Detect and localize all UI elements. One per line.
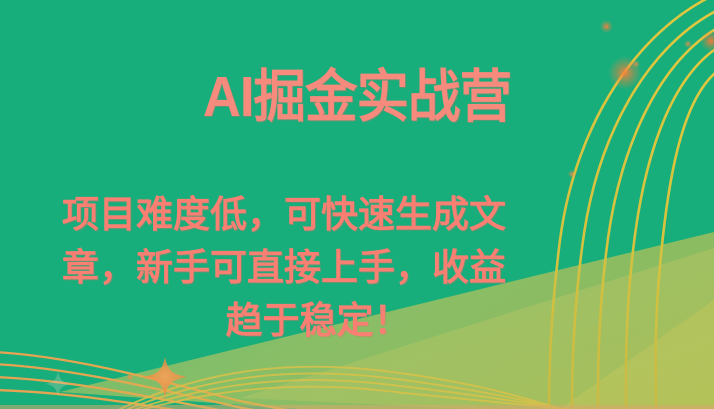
poster-subtitle: 项目难度低，可快速生成文 章，新手可直接上手，收益 趋于稳定！ bbox=[62, 188, 574, 347]
subtitle-line-1: 项目难度低，可快速生成文 bbox=[62, 188, 574, 241]
subtitle-line-3: 趋于稳定！ bbox=[62, 294, 574, 347]
poster-title: AI掘金实战营 bbox=[29, 69, 686, 126]
poster-text-block: AI掘金实战营 项目难度低，可快速生成文 章，新手可直接上手，收益 趋于稳定！ bbox=[0, 0, 714, 409]
subtitle-line-2: 章，新手可直接上手，收益 bbox=[62, 241, 574, 294]
promo-poster: AI掘金实战营 项目难度低，可快速生成文 章，新手可直接上手，收益 趋于稳定！ bbox=[0, 0, 714, 409]
